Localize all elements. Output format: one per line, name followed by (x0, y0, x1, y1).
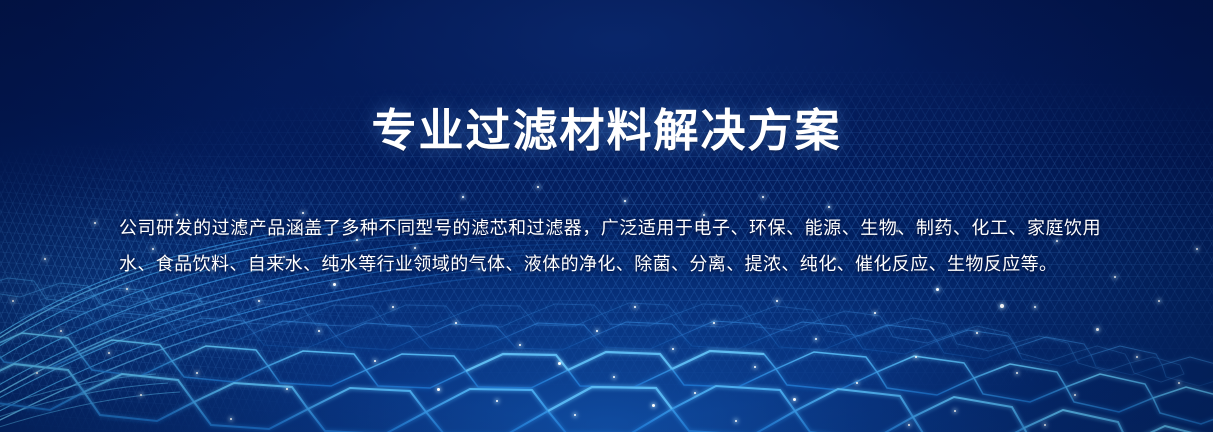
banner-content: 专业过滤材料解决方案 公司研发的过滤产品涵盖了多种不同型号的滤芯和过滤器，广泛适… (0, 0, 1213, 432)
page-title: 专业过滤材料解决方案 (0, 104, 1213, 158)
banner-description: 公司研发的过滤产品涵盖了多种不同型号的滤芯和过滤器，广泛适用于电子、环保、能源、… (119, 210, 1101, 282)
hero-banner: 专业过滤材料解决方案 公司研发的过滤产品涵盖了多种不同型号的滤芯和过滤器，广泛适… (0, 0, 1213, 432)
